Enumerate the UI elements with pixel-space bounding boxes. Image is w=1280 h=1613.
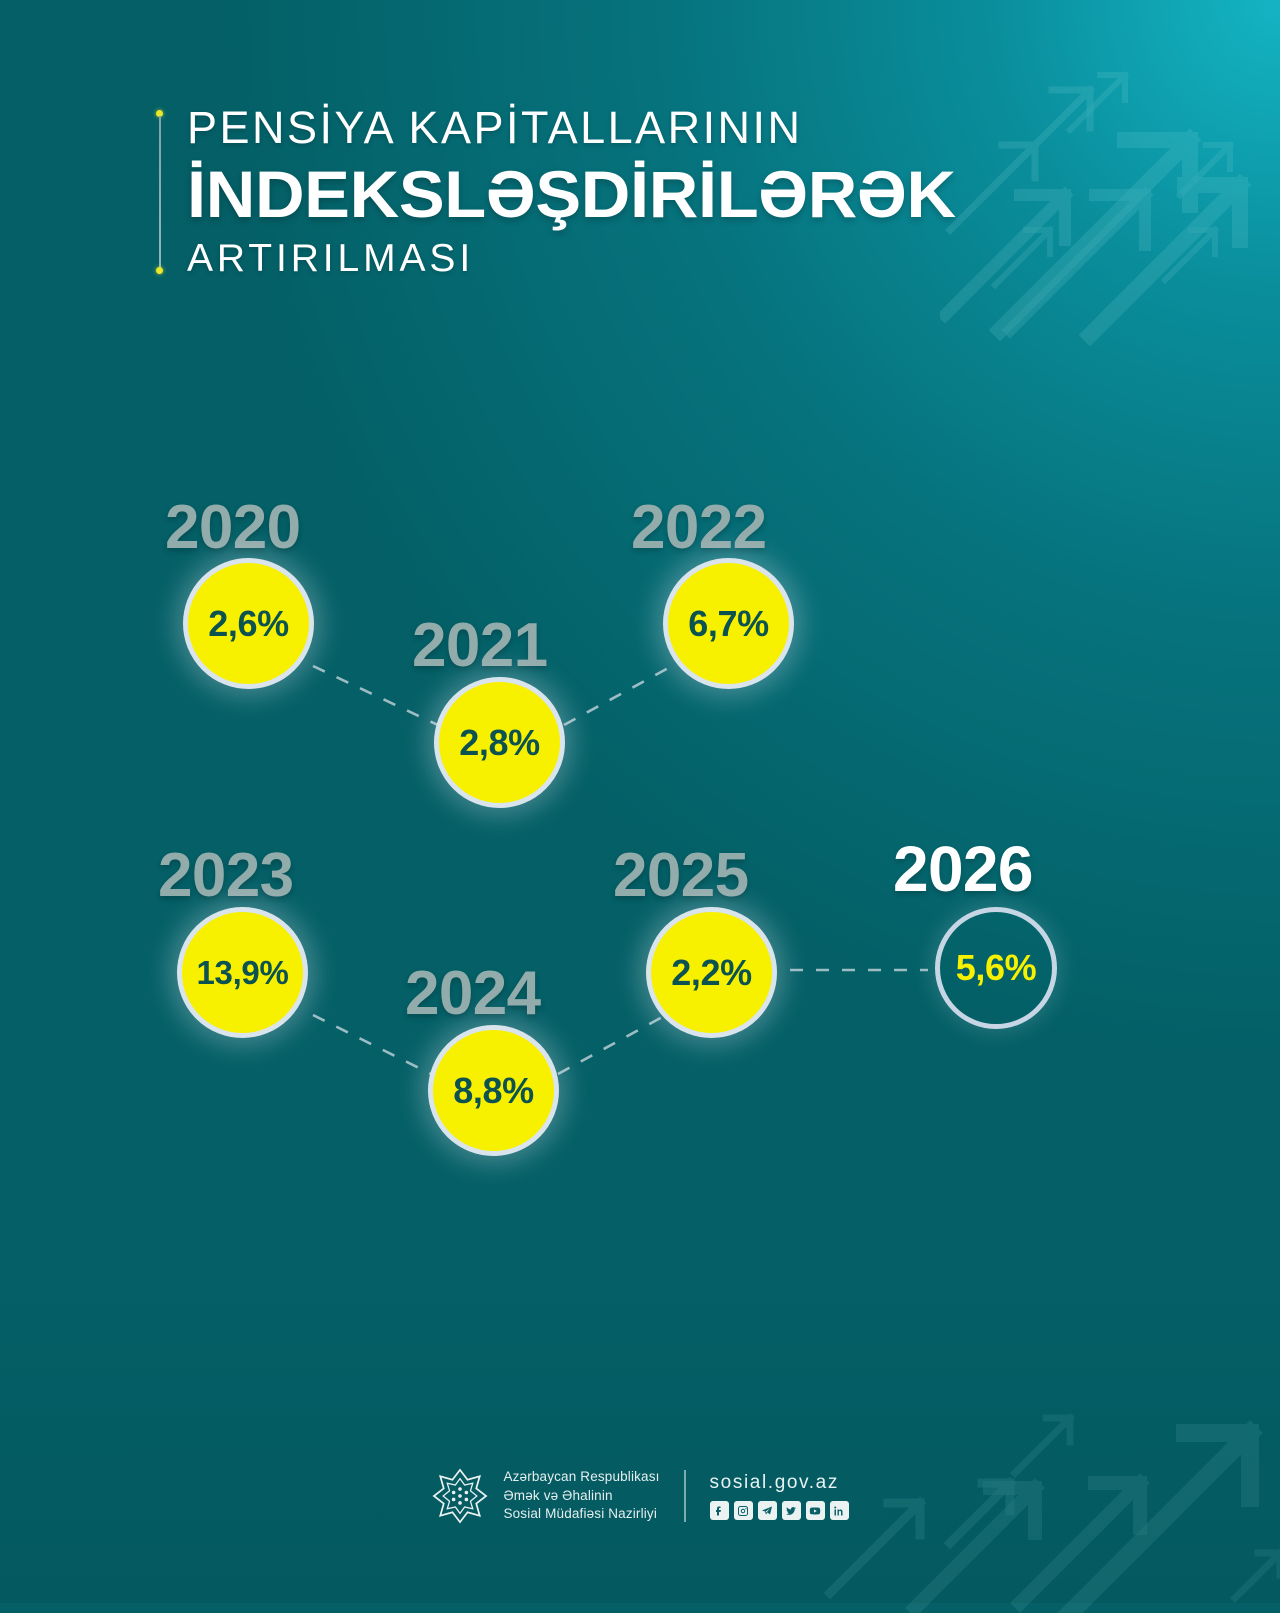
value-bubble-2026[interactable]: 5,6% <box>935 907 1057 1029</box>
year-label-2024: 2024 <box>405 958 540 1029</box>
value-text-2024: 8,8% <box>453 1073 534 1109</box>
social-links <box>710 1501 849 1520</box>
value-bubble-2024[interactable]: 8,8% <box>428 1025 559 1156</box>
ministry-star-emblem-icon <box>431 1467 489 1525</box>
value-bubble-2022[interactable]: 6,7% <box>663 558 794 689</box>
title-block: PENSİYA KAPİTALLARININ İNDEKSLƏŞDİRİLƏRƏ… <box>158 104 978 280</box>
title-accent-rule <box>158 110 161 274</box>
title-line-2: İNDEKSLƏŞDİRİLƏRƏK <box>187 161 956 227</box>
website-url[interactable]: sosial.gov.az <box>710 1472 849 1494</box>
title-line-3: ARTIRILMASI <box>187 239 926 280</box>
twitter-icon[interactable] <box>782 1501 801 1520</box>
year-label-2022: 2022 <box>631 492 766 563</box>
value-text-2023: 13,9% <box>197 956 289 989</box>
title-dot-bottom-icon <box>156 267 163 274</box>
footer: Azərbaycan Respublikası Əmək və Əhalinin… <box>0 1467 1280 1525</box>
title-line-1: PENSİYA KAPİTALLARININ <box>187 104 926 151</box>
value-text-2021: 2,8% <box>459 725 540 761</box>
linkedin-icon[interactable] <box>830 1501 849 1520</box>
year-label-2023: 2023 <box>158 840 293 911</box>
youtube-icon[interactable] <box>806 1501 825 1520</box>
telegram-icon[interactable] <box>758 1501 777 1520</box>
footer-divider <box>684 1470 686 1522</box>
value-text-2020: 2,6% <box>208 606 289 642</box>
year-label-2026: 2026 <box>893 832 1033 906</box>
year-label-2020: 2020 <box>165 492 300 563</box>
website-block: sosial.gov.az <box>710 1472 849 1520</box>
value-bubble-2020[interactable]: 2,6% <box>183 558 314 689</box>
value-bubble-2023[interactable]: 13,9% <box>177 907 308 1038</box>
ministry-brand: Azərbaycan Respublikası Əmək və Əhalinin… <box>431 1467 659 1525</box>
year-label-2025: 2025 <box>613 840 748 911</box>
timeline-chart: 2020 2,6% 2021 2,8% 2022 6,7% 2023 13,9%… <box>0 470 1280 1170</box>
connector-2021-2022 <box>564 666 672 725</box>
connector-lines <box>0 470 1280 1170</box>
title-vertical-line <box>159 116 161 268</box>
ministry-name-line-3: Sosial Müdafiəsi Nazirliyi <box>503 1505 659 1524</box>
connector-2024-2025 <box>558 1015 666 1074</box>
facebook-icon[interactable] <box>710 1501 729 1520</box>
ministry-name-line-1: Azərbaycan Respublikası <box>503 1468 659 1487</box>
value-bubble-2021[interactable]: 2,8% <box>434 677 565 808</box>
ministry-name: Azərbaycan Respublikası Əmək və Əhalinin… <box>503 1468 659 1524</box>
value-text-2025: 2,2% <box>671 955 752 991</box>
value-text-2022: 6,7% <box>688 606 769 642</box>
ministry-name-line-2: Əmək və Əhalinin <box>503 1487 659 1506</box>
value-text-2026: 5,6% <box>956 950 1037 986</box>
decorative-arrows-top-right <box>940 30 1280 360</box>
instagram-icon[interactable] <box>734 1501 753 1520</box>
value-bubble-2025[interactable]: 2,2% <box>646 907 777 1038</box>
year-label-2021: 2021 <box>412 610 547 681</box>
